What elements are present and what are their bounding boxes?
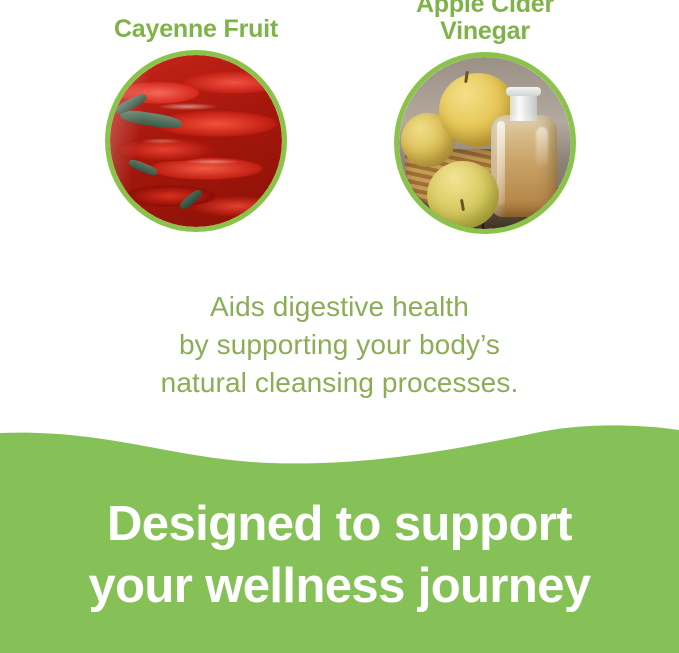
ingredient-cayenne-fruit: Cayenne Fruit [66, 16, 326, 232]
ingredients-section: Cayenne Fruit Apple Cider Vinegar [0, 0, 679, 270]
banner-headline: Designed to support your wellness journe… [0, 493, 679, 617]
benefit-statement: Aids digestive health by supporting your… [0, 288, 679, 402]
cayenne-highlight-overlay [110, 55, 282, 227]
vinegar-bottle [491, 87, 557, 217]
cayenne-peppers-photo [105, 50, 287, 232]
cayenne-photo-inner [110, 55, 282, 227]
infographic-page: Cayenne Fruit Apple Cider Vinegar [0, 0, 679, 653]
bottle-lip [506, 87, 541, 96]
ingredient-image-wrap-acv [394, 52, 576, 234]
ingredient-apple-cider-vinegar: Apple Cider Vinegar [355, 0, 615, 234]
ingredient-title-cayenne: Cayenne Fruit [66, 16, 326, 43]
bottle-highlight [536, 127, 548, 167]
ingredient-image-wrap-cayenne [105, 50, 287, 232]
apple-icon [427, 161, 499, 229]
apple-cider-vinegar-photo [394, 52, 576, 234]
wellness-banner: Designed to support your wellness journe… [0, 415, 679, 653]
acv-photo-inner [399, 57, 571, 229]
ingredient-title-apple-cider-vinegar: Apple Cider Vinegar [355, 0, 615, 45]
